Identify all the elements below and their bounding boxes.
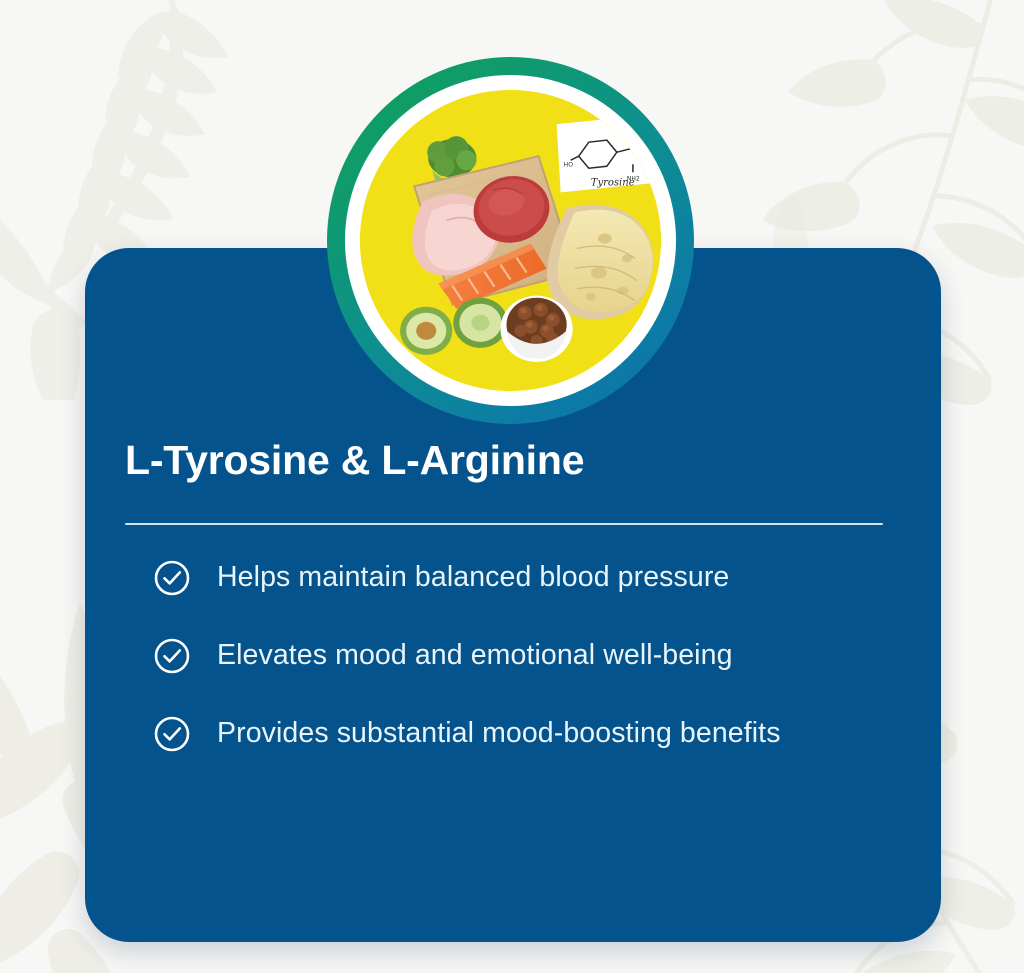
benefit-label: Provides substantial mood-boosting benef… [217,716,781,752]
list-item: Elevates mood and emotional well-being [125,637,903,675]
list-item: Helps maintain balanced blood pressure [125,559,903,597]
benefit-label: Helps maintain balanced blood pressure [217,560,729,596]
hero-white-ring: HO NH2 Tyrosine [345,75,676,406]
svg-text:Tyrosine: Tyrosine [591,177,635,188]
check-circle-icon [153,637,191,675]
swiss-cheese-slices [547,205,653,320]
benefit-label: Elevates mood and emotional well-being [217,638,733,674]
page-title: L-Tyrosine & L-Arginine [123,438,903,483]
check-circle-icon [153,715,191,753]
protein-foods-photo: HO NH2 Tyrosine [360,90,661,391]
benefit-list: Helps maintain balanced blood pressure E… [123,559,903,753]
check-circle-icon [153,559,191,597]
list-item: Provides substantial mood-boosting benef… [125,715,903,753]
svg-text:HO: HO [564,161,574,168]
title-divider [125,523,883,525]
tyrosine-molecule-card: HO NH2 Tyrosine [557,114,661,192]
hero-image-ring: HO NH2 Tyrosine [327,57,694,424]
bowl-of-hazelnuts [500,296,572,362]
